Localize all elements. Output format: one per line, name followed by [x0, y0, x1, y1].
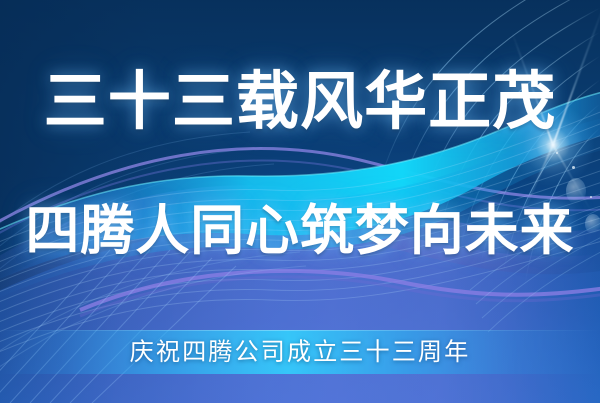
headline-line-2: 四腾人同心筑梦向未来: [0, 196, 600, 266]
subtitle-text: 庆祝四腾公司成立三十三周年: [0, 336, 600, 369]
anniversary-banner: 三十三载风华正茂 四腾人同心筑梦向未来 庆祝四腾公司成立三十三周年: [0, 0, 600, 403]
subtitle-band-highlight: [0, 330, 600, 331]
headline-line-1: 三十三载风华正茂: [0, 62, 600, 140]
